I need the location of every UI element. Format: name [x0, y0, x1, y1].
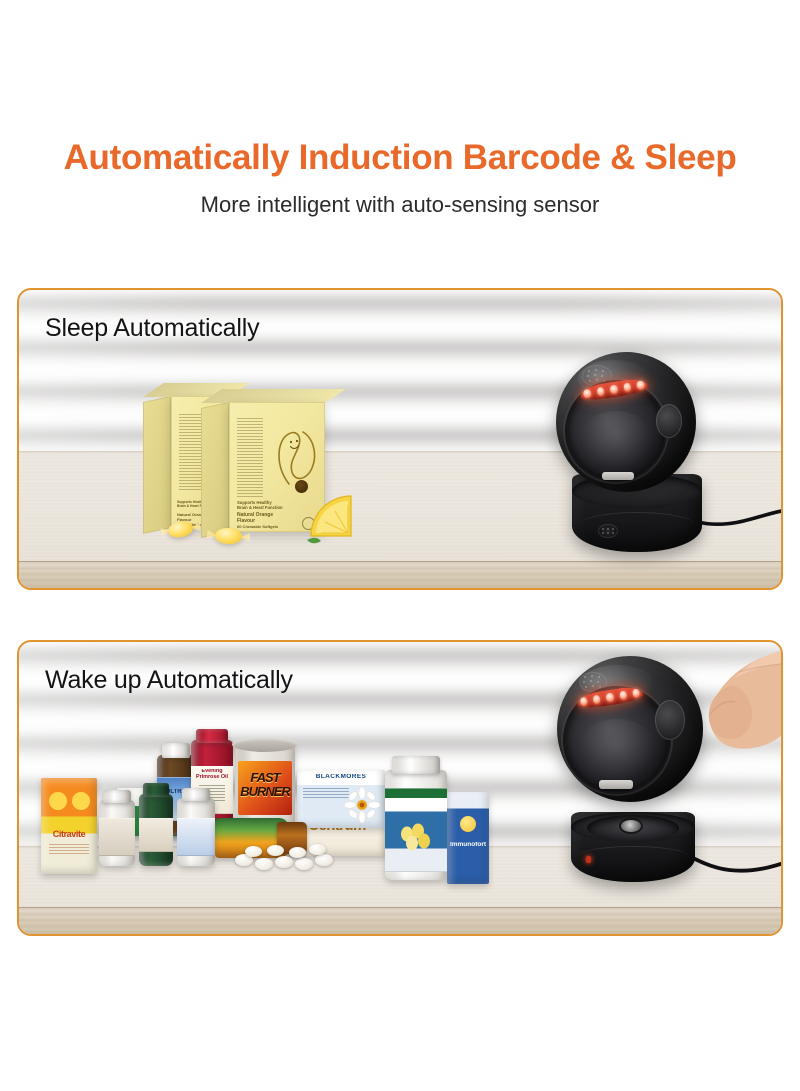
tablet	[315, 854, 333, 866]
scanner-sensor-grid-icon	[579, 672, 607, 692]
scanner-base-vent-icon	[598, 524, 618, 538]
pack-side-face	[201, 402, 229, 538]
product-label-citravite: Citravite	[41, 830, 97, 839]
pack-fine-print-rear	[179, 414, 201, 492]
bottle-cap	[162, 743, 191, 758]
scanner-device-docked	[543, 352, 743, 560]
panel-sleep-automatically: Supports Healthy Brain & Heart Function …	[17, 288, 783, 590]
product-epo: EPO	[385, 770, 447, 880]
tablet	[255, 858, 273, 870]
product-citravite: Citravite	[41, 778, 97, 874]
scene-wake: FAST BURNER Evening Primrose Oil ULTRA	[19, 642, 781, 934]
scanner-brand-tag	[599, 780, 633, 789]
bottle-cap	[392, 756, 439, 774]
tablet	[267, 845, 284, 856]
product-label-primrose: Evening Primrose Oil	[191, 769, 233, 780]
bottle-label	[99, 818, 135, 856]
product-small-bottle-2	[139, 794, 173, 866]
pack-count-front: 60 Chewable Softgels	[237, 524, 299, 529]
bottle-cap	[182, 788, 211, 801]
product-label-epo: EPO	[385, 804, 447, 813]
heading-block: Automatically Induction Barcode & Sleep …	[0, 138, 800, 219]
scanner-base-seam	[577, 846, 689, 867]
scanner-base-seam	[580, 512, 694, 537]
pack-side-face	[143, 396, 171, 534]
tablet	[275, 856, 293, 868]
panel-wake-label: Wake up Automatically	[45, 666, 293, 695]
scanner-contact-pin	[621, 820, 641, 832]
page-subtitle: More intelligent with auto-sensing senso…	[0, 192, 800, 218]
bottle-label	[177, 818, 215, 856]
pack-top-face	[201, 389, 346, 403]
pack-flavour-front: Natural Orange Flavour	[237, 512, 299, 525]
tablet	[295, 858, 313, 870]
box-face	[447, 792, 489, 884]
product-label-fast-burner: FAST BURNER	[235, 771, 295, 798]
product-label-blackmores: BLACKMORES	[297, 774, 385, 781]
lemon-wedge	[305, 490, 359, 544]
bottle-label	[139, 818, 173, 852]
sun-icon	[460, 816, 476, 832]
sunburst-graphic	[43, 784, 95, 818]
bottle-cap	[196, 729, 228, 743]
product-small-bottle-1	[99, 800, 135, 866]
scene-sleep: Supports Healthy Brain & Heart Function …	[19, 290, 781, 588]
product-label-immunofort: Immunofort	[447, 842, 489, 849]
scanner-sphere-head	[556, 352, 696, 492]
scanner-brand-tag	[602, 472, 634, 480]
tablet	[309, 844, 326, 855]
hand-holding-scanner	[649, 642, 781, 822]
scanner-base	[571, 812, 695, 882]
daisy-flower-graphic	[343, 786, 381, 824]
pack-claim-front: Supports Healthy Brain & Heart Function	[237, 500, 299, 511]
tablet	[245, 846, 262, 857]
panel-sleep-label: Sleep Automatically	[45, 314, 259, 343]
table-front-edge	[19, 907, 781, 934]
bottle-cap	[103, 790, 130, 803]
table-front-edge	[19, 561, 781, 588]
tablet	[289, 847, 306, 858]
panel-wake-up-automatically: FAST BURNER Evening Primrose Oil ULTRA	[17, 640, 783, 936]
scanner-side-button[interactable]	[656, 404, 682, 438]
product-small-bottle-3	[177, 798, 215, 866]
product-feature-page: Automatically Induction Barcode & Sleep …	[0, 0, 800, 1091]
bottle-cap	[143, 783, 169, 797]
box-fine-print	[49, 844, 89, 856]
pack-fine-print-front	[237, 418, 263, 498]
capsules-graphic	[397, 822, 435, 852]
page-title: Automatically Induction Barcode & Sleep	[0, 138, 800, 178]
product-immunofort: Immunofort	[447, 792, 489, 884]
canister-lid	[232, 737, 298, 752]
